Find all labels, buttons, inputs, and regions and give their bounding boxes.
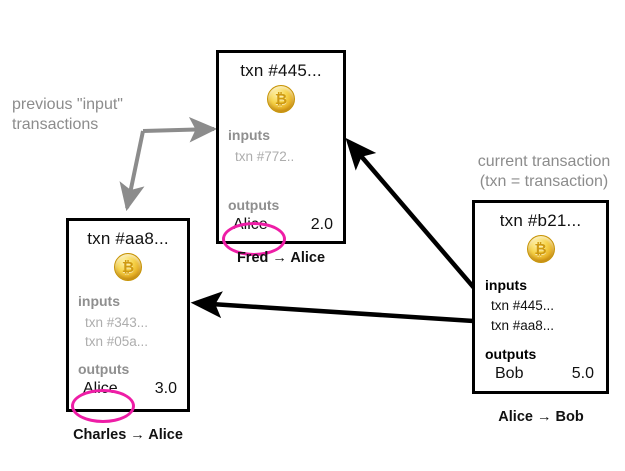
- transaction-title: txn #aa8...: [69, 229, 187, 249]
- transaction-caption-txn-b21: Alice → Bob: [466, 409, 616, 425]
- transaction-box-txn-445[interactable]: txn #445... ₿ inputs txn #772.. outputs …: [216, 50, 346, 244]
- inputs-label: inputs: [228, 127, 343, 143]
- input-ref[interactable]: txn #05a...: [85, 334, 187, 349]
- input-ref[interactable]: txn #772..: [235, 149, 343, 164]
- output-amount: 2.0: [311, 216, 333, 234]
- outputs-label: outputs: [485, 346, 606, 362]
- inputs-label: inputs: [485, 277, 606, 293]
- outputs-label: outputs: [78, 361, 187, 377]
- annotation-current-transaction-line1: current transaction: [469, 152, 619, 172]
- transaction-caption-txn-aa8: Charles → Alice: [46, 427, 210, 443]
- transaction-title: txn #b21...: [475, 211, 606, 231]
- transaction-box-txn-aa8[interactable]: txn #aa8... ₿ inputs txn #343... txn #05…: [66, 218, 190, 412]
- inputs-label: inputs: [78, 293, 187, 309]
- input-ref[interactable]: txn #aa8...: [491, 318, 606, 333]
- transaction-title: txn #445...: [219, 61, 343, 81]
- diagram-canvas: previous "input" transactions current tr…: [0, 0, 625, 471]
- transaction-box-txn-b21[interactable]: txn #b21... ₿ inputs txn #445... txn #aa…: [472, 200, 609, 394]
- input-ref[interactable]: txn #343...: [85, 315, 187, 330]
- bitcoin-glyph: ₿: [122, 260, 134, 275]
- annotation-previous-inputs-line1: previous "input": [12, 95, 123, 115]
- output-recipient: Bob: [495, 365, 523, 383]
- arrow-previous-inputs-fork: [127, 129, 214, 208]
- bitcoin-coin-icon: ₿: [69, 253, 187, 281]
- bitcoin-glyph: ₿: [275, 92, 287, 107]
- bitcoin-coin-icon: ₿: [475, 235, 606, 263]
- output-row: Bob 5.0: [495, 365, 594, 383]
- output-amount: 5.0: [572, 365, 594, 383]
- arrow-input-txn-aa8: [196, 303, 489, 322]
- annotation-previous-inputs: previous "input" transactions: [12, 95, 123, 134]
- bitcoin-glyph: ₿: [534, 242, 546, 257]
- annotation-previous-inputs-line2: transactions: [12, 115, 123, 135]
- bitcoin-coin-icon: ₿: [219, 85, 343, 113]
- input-ref[interactable]: txn #445...: [491, 298, 606, 313]
- output-amount: 3.0: [155, 380, 177, 398]
- highlight-ellipse-alice-aa8: [71, 389, 135, 423]
- arrow-input-txn-445: [349, 142, 487, 303]
- transaction-caption-txn-445: Fred → Alice: [216, 250, 346, 266]
- annotation-current-transaction: current transaction (txn = transaction): [469, 152, 619, 191]
- annotation-current-transaction-line2: (txn = transaction): [469, 172, 619, 192]
- outputs-label: outputs: [228, 197, 343, 213]
